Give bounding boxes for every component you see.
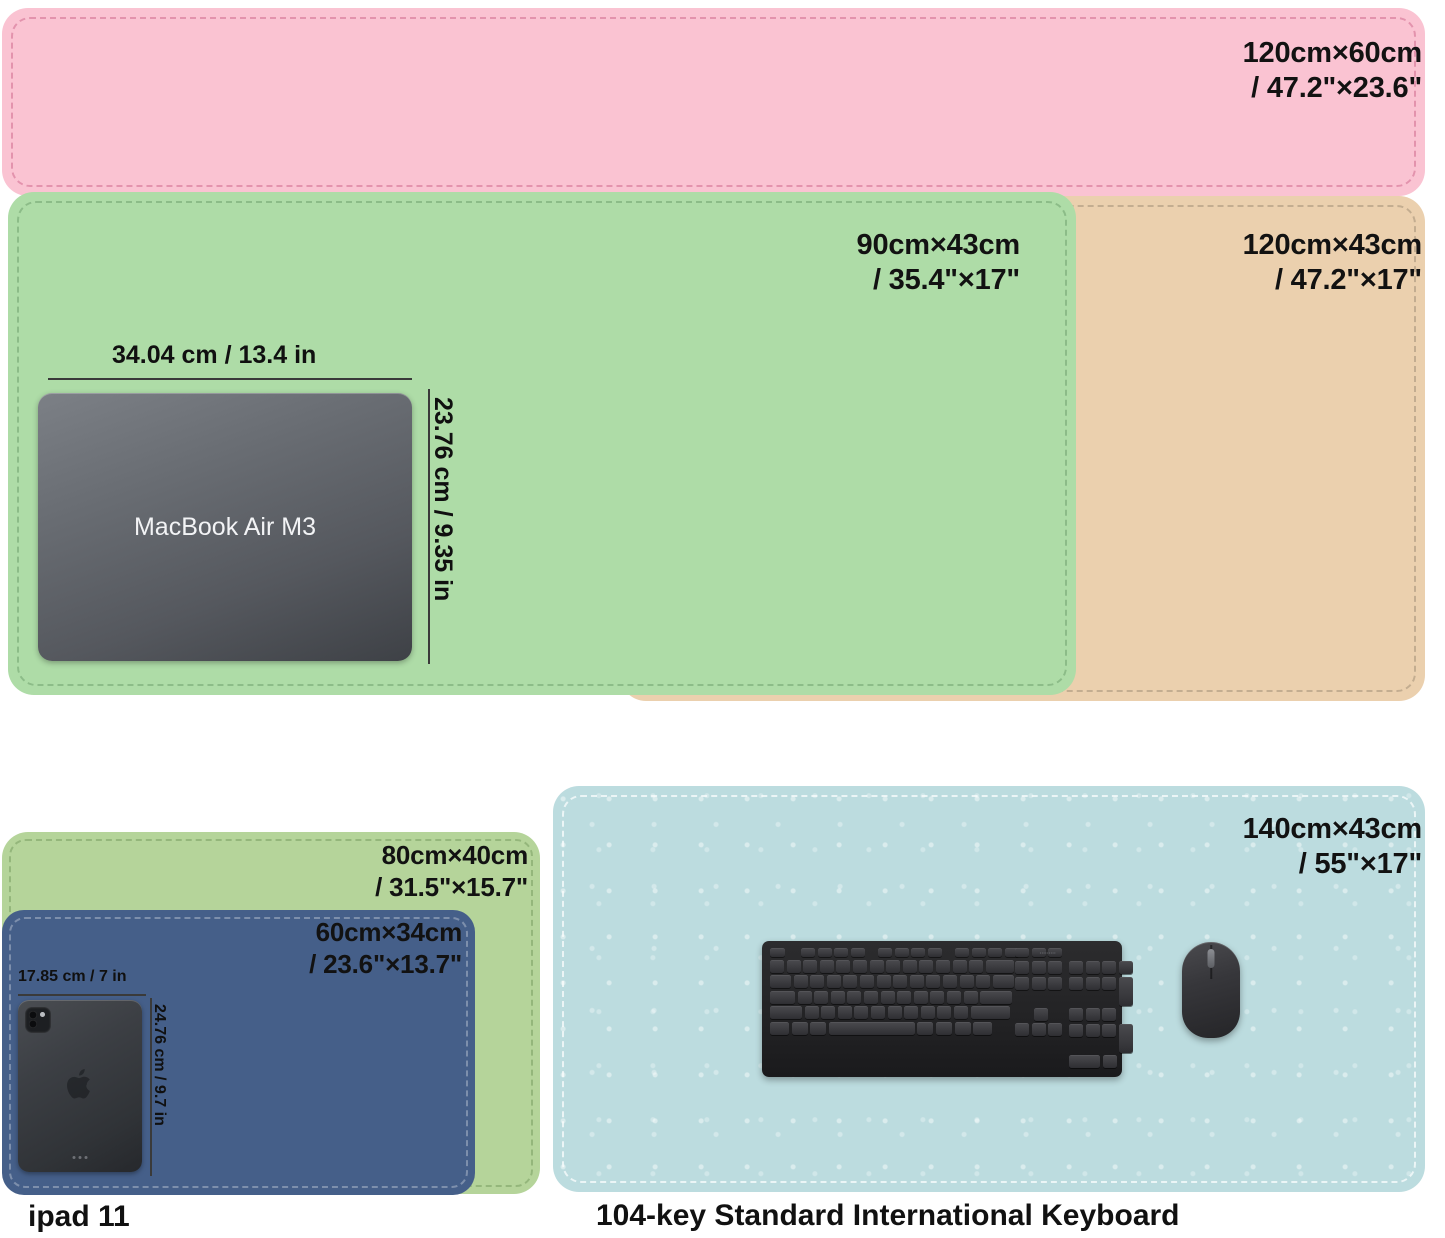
- keyboard-shift-row: [770, 1006, 1006, 1019]
- mouse-device: [1182, 942, 1240, 1038]
- ipad-smart-connector: [73, 1156, 88, 1159]
- keyboard-arrow-up-row: [1015, 1008, 1062, 1021]
- macbook-air-m3-device: MacBook Air M3: [38, 393, 412, 661]
- keyboard-arrow-row: [1015, 1023, 1062, 1036]
- keyboard-nav-row-3: [1015, 977, 1062, 990]
- pink-mat-stitching: [11, 17, 1416, 187]
- keyboard-device: •••••••••: [762, 941, 1122, 1077]
- apple-logo-icon: [65, 1066, 95, 1102]
- keyboard-number-row: [770, 960, 1006, 973]
- numpad-row-5: [1069, 1055, 1131, 1068]
- macbook-width-dim-line: [48, 378, 412, 380]
- pink-mat: [2, 8, 1425, 196]
- keyboard-main-block: [770, 948, 1006, 1035]
- numpad-row-4: [1069, 1024, 1131, 1053]
- macbook-label: MacBook Air M3: [134, 513, 316, 542]
- keyboard-numpad: [1069, 948, 1131, 1068]
- numpad-row-1: [1069, 961, 1131, 974]
- numpad-row-2: [1069, 977, 1131, 1006]
- navy-mat-size-label: 60cm×34cm / 23.6"×13.7": [190, 917, 462, 980]
- keyboard-qwerty-row: [770, 975, 1006, 988]
- pink-mat-size-label: 120cm×60cm / 47.2"×23.6": [1243, 36, 1422, 107]
- infographic-canvas: 120cm×60cm / 47.2"×23.6" 120cm×43cm / 47…: [0, 0, 1445, 1238]
- ipad-height-dim-text: 24.76 cm / 9.7 in: [150, 1004, 168, 1126]
- keyboard-caption: 104-key Standard International Keyboard: [596, 1199, 1180, 1233]
- olive-mat-size-label: 80cm×40cm / 31.5"×15.7": [240, 840, 528, 903]
- ipad-11-device: [18, 1000, 142, 1172]
- keyboard-space-row: [770, 1022, 1006, 1035]
- ipad-camera-module: [25, 1007, 51, 1033]
- keyboard-brand-mark: •••••••••: [1040, 950, 1056, 955]
- light-blue-mat-size-label: 140cm×43cm / 55"×17": [1243, 812, 1422, 883]
- macbook-width-dim-text: 34.04 cm / 13.4 in: [112, 341, 316, 370]
- keyboard-nav-row-2: [1015, 961, 1062, 974]
- green-mat-size-label: 90cm×43cm / 35.4"×17": [700, 228, 1020, 299]
- ipad-width-dim-text: 17.85 cm / 7 in: [18, 968, 127, 986]
- keyboard-function-row: [770, 948, 1006, 957]
- keyboard-nav-cluster: [1015, 948, 1062, 1036]
- mouse-scroll-wheel: [1208, 949, 1215, 968]
- tan-mat-size-label: 120cm×43cm / 47.2"×17": [1243, 228, 1422, 299]
- numpad-row-3: [1069, 1008, 1131, 1021]
- ipad-caption: ipad 11: [28, 1200, 130, 1234]
- ipad-width-dim-line: [18, 994, 146, 996]
- keyboard-home-row: [770, 991, 1006, 1004]
- macbook-height-dim-text: 23.76 cm / 9.35 in: [428, 397, 457, 601]
- keyboard-sections: [770, 948, 1114, 1068]
